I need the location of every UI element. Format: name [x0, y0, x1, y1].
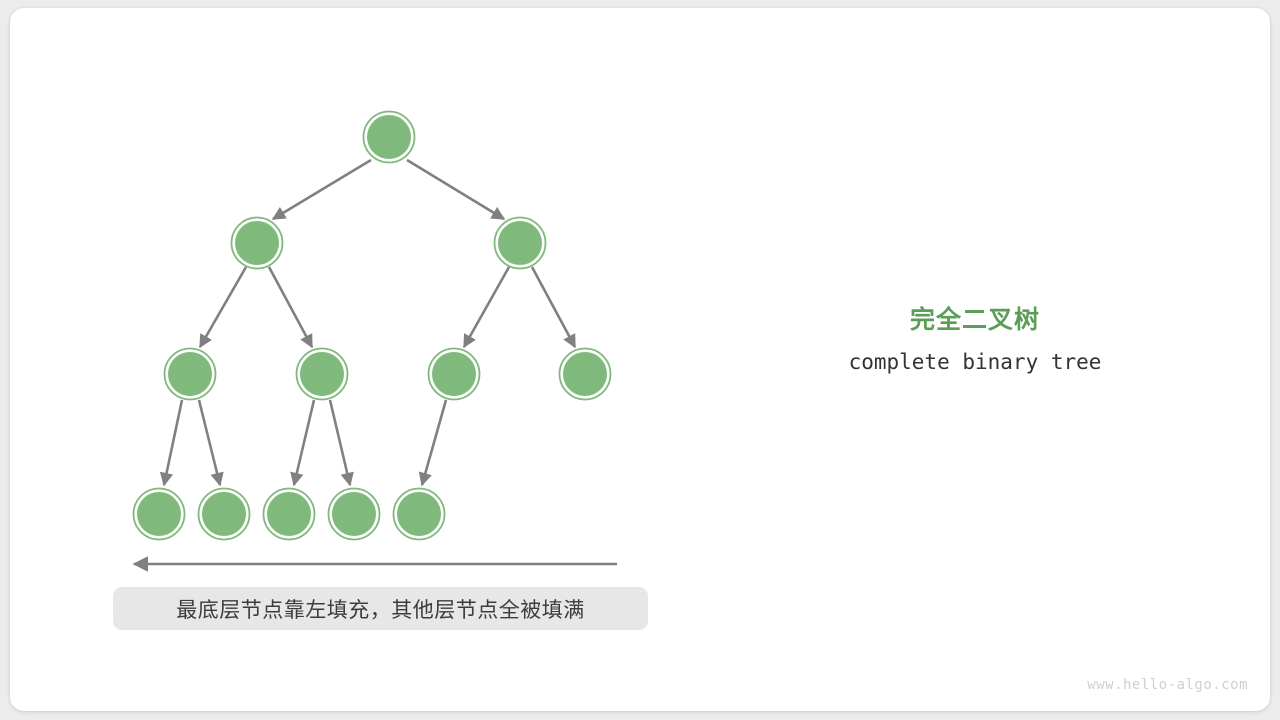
- tree-edge: [200, 267, 246, 347]
- tree-node[interactable]: [329, 489, 380, 540]
- tree-edge: [330, 400, 350, 485]
- tree-node[interactable]: [560, 349, 611, 400]
- tree-edge: [164, 400, 182, 485]
- tree-edge: [294, 400, 314, 485]
- tree-edge: [407, 160, 504, 219]
- diagram-card: 完全二叉树 complete binary tree 最底层节点靠左填充，其他层…: [10, 8, 1270, 711]
- tree-node[interactable]: [199, 489, 250, 540]
- tree-node[interactable]: [232, 218, 283, 269]
- tree-node[interactable]: [264, 489, 315, 540]
- watermark-text: www.hello-algo.com: [1087, 677, 1248, 693]
- tree-edge: [464, 267, 509, 347]
- tree-node[interactable]: [364, 112, 415, 163]
- tree-node[interactable]: [394, 489, 445, 540]
- tree-node[interactable]: [297, 349, 348, 400]
- tree-node[interactable]: [134, 489, 185, 540]
- tree-edge: [199, 400, 220, 485]
- caption-text: 最底层节点靠左填充，其他层节点全被填满: [176, 594, 585, 624]
- tree-node[interactable]: [495, 218, 546, 269]
- tree-edge: [269, 267, 312, 347]
- tree-edge: [422, 400, 446, 485]
- tree-edge: [273, 160, 371, 219]
- caption-badge: 最底层节点靠左填充，其他层节点全被填满: [113, 587, 648, 630]
- tree-node[interactable]: [429, 349, 480, 400]
- tree-node[interactable]: [165, 349, 216, 400]
- tree-edges: [164, 160, 575, 485]
- tree-edge: [532, 267, 575, 347]
- tree-nodes: [134, 112, 611, 540]
- title-english: complete binary tree: [815, 350, 1135, 374]
- title-chinese: 完全二叉树: [845, 300, 1105, 336]
